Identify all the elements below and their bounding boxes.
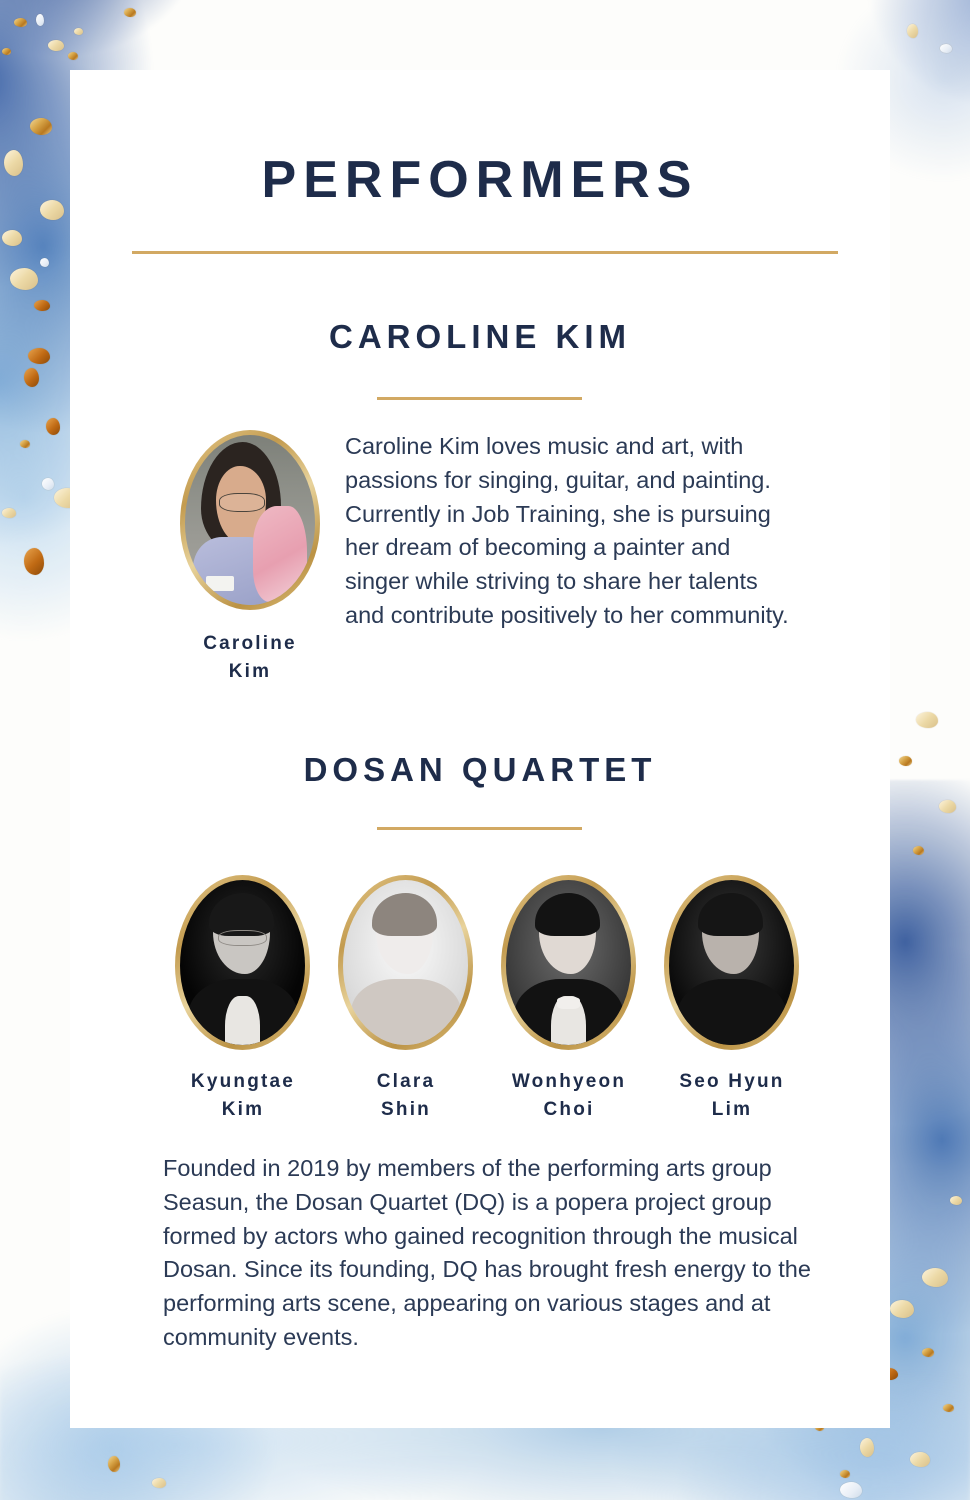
portrait-seo-hyun-lim	[664, 875, 799, 1050]
poster-page: PERFORMERS CAROLINE KIM Caroline Kim	[0, 0, 970, 1500]
gold-fleck	[124, 8, 136, 17]
gold-fleck	[74, 28, 83, 35]
gold-fleck	[2, 508, 16, 518]
kyungtae-kim-photo	[180, 880, 305, 1045]
gold-fleck	[152, 1478, 166, 1488]
portrait-kyungtae-kim	[175, 875, 310, 1050]
gold-fleck	[48, 40, 64, 51]
white-fleck	[42, 478, 54, 490]
section-heading-caroline-kim: CAROLINE KIM	[70, 318, 890, 356]
gold-fleck	[2, 230, 22, 246]
bio-dosan-quartet: Founded in 2019 by members of the perfor…	[163, 1152, 823, 1355]
caption-clara-shin: Clara Shin	[315, 1068, 497, 1123]
gold-fleck	[860, 1438, 874, 1457]
caption-wonhyeon-choi: Wonhyeon Choi	[478, 1068, 660, 1123]
gold-fleck	[24, 368, 39, 387]
gold-fleck	[30, 118, 52, 135]
clara-shin-photo	[343, 880, 468, 1045]
section-divider-caroline-kim	[377, 397, 582, 400]
caption-caroline-kim: Caroline Kim	[160, 630, 340, 685]
gold-fleck	[899, 756, 912, 766]
gold-fleck	[14, 18, 27, 27]
gold-fleck	[907, 24, 918, 38]
gold-fleck	[2, 48, 11, 55]
gold-fleck	[939, 800, 956, 813]
gold-fleck	[913, 846, 924, 855]
page-title: PERFORMERS	[70, 150, 890, 210]
gold-fleck	[108, 1456, 120, 1472]
caption-kyungtae-kim: Kyungtae Kim	[152, 1068, 334, 1123]
gold-fleck	[40, 200, 64, 220]
portrait-wonhyeon-choi	[501, 875, 636, 1050]
white-fleck	[940, 44, 952, 53]
caroline-kim-photo	[185, 435, 315, 605]
caption-line-1: Clara	[315, 1068, 497, 1096]
caption-line-1: Caroline	[160, 630, 340, 658]
white-fleck	[36, 14, 44, 26]
gold-fleck	[950, 1196, 962, 1205]
gold-fleck	[20, 440, 30, 448]
section-divider-dosan-quartet	[377, 827, 582, 830]
caption-line-2: Lim	[641, 1096, 823, 1124]
title-divider	[132, 251, 838, 254]
caption-line-2: Shin	[315, 1096, 497, 1124]
seo-hyun-lim-photo	[669, 880, 794, 1045]
gold-fleck	[24, 548, 44, 575]
caption-line-1: Seo Hyun	[641, 1068, 823, 1096]
white-fleck	[840, 1482, 862, 1498]
gold-fleck	[916, 712, 938, 728]
section-heading-dosan-quartet: DOSAN QUARTET	[70, 751, 890, 789]
gold-fleck	[46, 418, 60, 435]
gold-fleck	[910, 1452, 930, 1467]
content-card: PERFORMERS CAROLINE KIM Caroline Kim	[70, 70, 890, 1428]
gold-fleck	[943, 1404, 954, 1412]
gold-fleck	[922, 1268, 948, 1287]
wonhyeon-choi-photo	[506, 880, 631, 1045]
caption-seo-hyun-lim: Seo Hyun Lim	[641, 1068, 823, 1123]
gold-fleck	[840, 1470, 850, 1478]
caption-line-2: Kim	[160, 658, 340, 686]
white-fleck	[40, 258, 49, 267]
portrait-caroline-kim	[180, 430, 320, 610]
portrait-clara-shin	[338, 875, 473, 1050]
gold-fleck	[922, 1348, 934, 1357]
bio-caroline-kim: Caroline Kim loves music and art, with p…	[345, 430, 797, 633]
gold-fleck	[890, 1300, 914, 1318]
gold-fleck	[28, 348, 50, 364]
caption-line-1: Wonhyeon	[478, 1068, 660, 1096]
caption-line-2: Choi	[478, 1096, 660, 1124]
gold-fleck	[34, 300, 50, 311]
gold-fleck	[4, 150, 23, 176]
caption-line-1: Kyungtae	[152, 1068, 334, 1096]
gold-fleck	[10, 268, 38, 290]
gold-fleck	[68, 52, 78, 60]
caption-line-2: Kim	[152, 1096, 334, 1124]
